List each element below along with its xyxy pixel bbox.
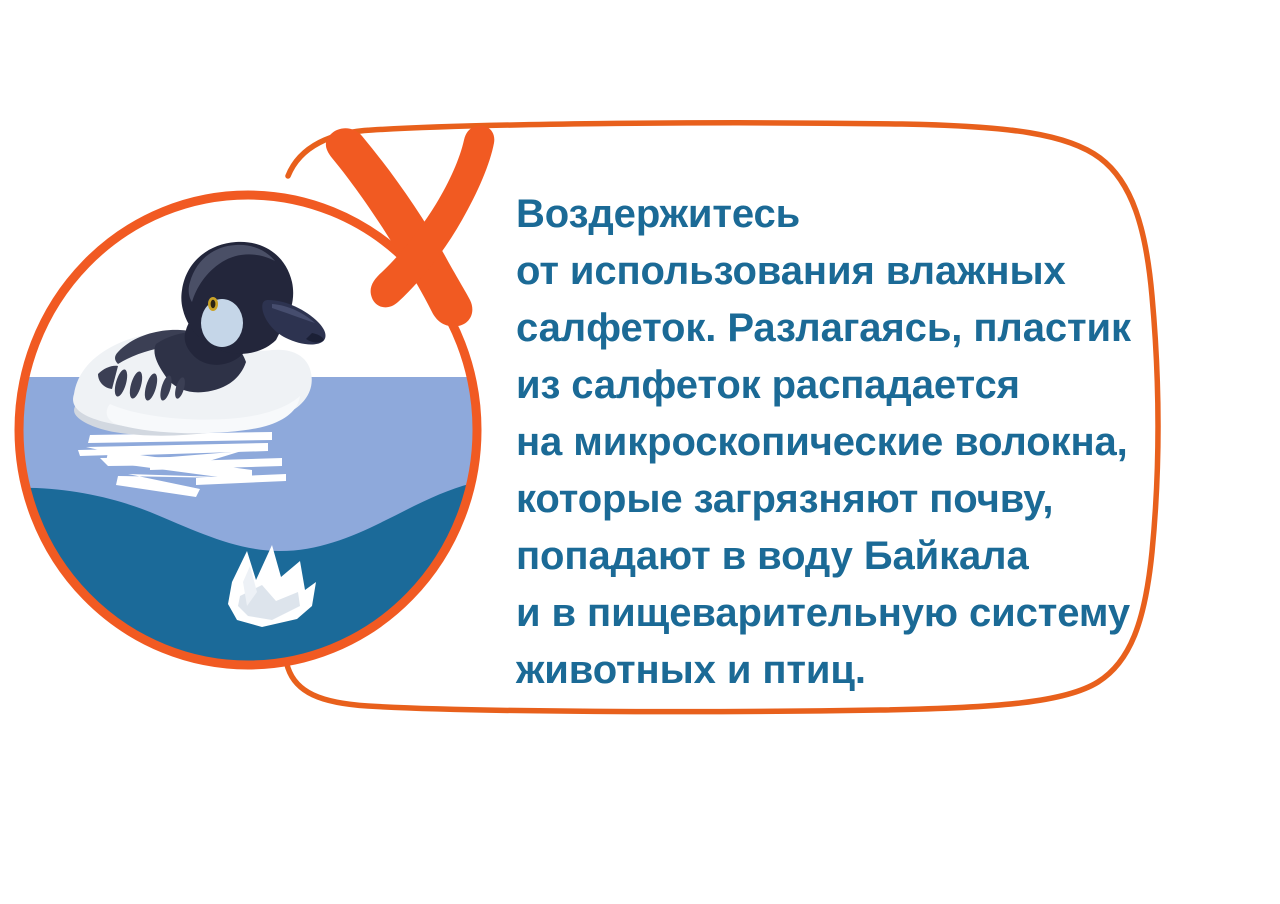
- poster-root: Воздержитесь от использования влажных са…: [0, 0, 1280, 904]
- message-line-8: и в пищеварительную систему: [516, 585, 1226, 642]
- duck-eye-pupil: [211, 300, 216, 308]
- message-line-3: салфеток. Разлагаясь, пластик: [516, 300, 1226, 357]
- message-line-5: на микроскопические волокна,: [516, 414, 1226, 471]
- message-line-6: которые загрязняют почву,: [516, 471, 1226, 528]
- message-line-2: от использования влажных: [516, 243, 1226, 300]
- message-line-7: попадают в воду Байкала: [516, 528, 1226, 585]
- duck-cheek-patch: [201, 299, 243, 347]
- message-line-1: Воздержитесь: [516, 186, 1226, 243]
- advice-message: Воздержитесь от использования влажных са…: [516, 186, 1226, 699]
- message-line-4: из салфеток распадается: [516, 357, 1226, 414]
- message-line-9: животных и птиц.: [516, 642, 1226, 699]
